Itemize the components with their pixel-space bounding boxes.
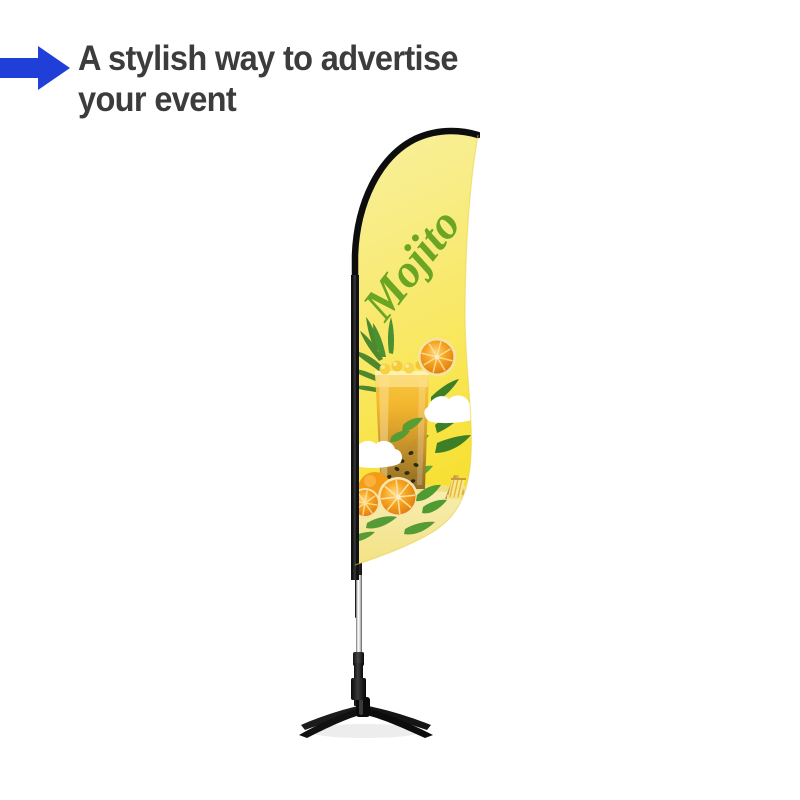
flag-pole-base-hub	[351, 678, 366, 700]
flag-sail: Mojito	[345, 125, 480, 580]
headline-block: A stylish way to advertise your event	[0, 38, 620, 124]
flag-cross-base	[293, 665, 443, 740]
feather-flag-product: Mojito	[290, 125, 520, 740]
product-marketing-image: A stylish way to advertise your event	[0, 0, 800, 800]
right-arrow-icon	[0, 46, 70, 90]
page-title: A stylish way to advertise your event	[78, 38, 571, 120]
